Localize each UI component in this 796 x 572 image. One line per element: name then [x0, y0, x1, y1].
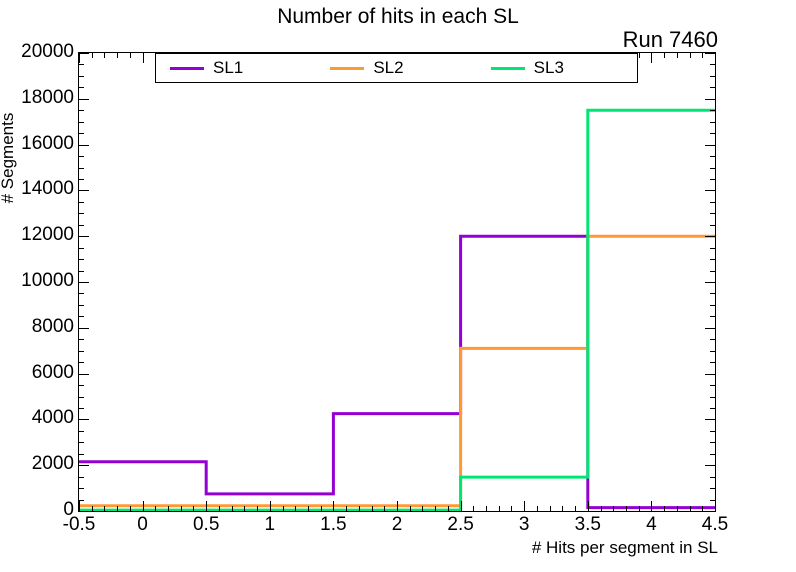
x-axis-tick	[702, 506, 703, 511]
y-axis-tick	[79, 282, 89, 283]
y-axis-tick	[79, 305, 84, 306]
x-axis-tick	[626, 506, 627, 511]
x-axis-tick	[168, 506, 169, 511]
y-axis-tick	[710, 408, 715, 409]
y-axis-tick	[710, 64, 715, 65]
x-axis-tick	[397, 501, 398, 511]
x-axis-tick	[702, 53, 703, 58]
y-tick-label: 14000	[21, 178, 74, 200]
legend: SL1SL2SL3	[155, 53, 638, 83]
x-tick-label: 1.5	[320, 514, 346, 536]
x-tick-label: 0.5	[193, 514, 219, 536]
x-tick-label: 2	[392, 514, 403, 536]
x-tick-label: -0.5	[63, 514, 96, 536]
y-axis-tick	[710, 316, 715, 317]
x-axis-tick	[715, 501, 716, 511]
x-axis-tick	[664, 53, 665, 58]
y-axis-tick	[79, 454, 84, 455]
y-axis-tick	[79, 374, 89, 375]
x-axis-tick	[244, 506, 245, 511]
y-axis-tick	[705, 282, 715, 283]
x-axis-tick	[715, 53, 716, 63]
y-tick-label: 18000	[21, 87, 74, 109]
run-label: Run 7460	[623, 27, 718, 53]
y-axis-tick	[79, 293, 84, 294]
y-axis-tick	[710, 248, 715, 249]
x-axis-tick	[664, 506, 665, 511]
x-axis-tick	[639, 53, 640, 58]
y-axis-tick	[710, 76, 715, 77]
histogram-svg	[79, 53, 715, 511]
x-axis-tick	[677, 506, 678, 511]
x-axis-tick	[92, 53, 93, 58]
y-axis-tick	[79, 271, 84, 272]
y-axis-tick	[710, 488, 715, 489]
y-axis-tick	[79, 465, 89, 466]
y-axis-tick	[710, 271, 715, 272]
y-axis-tick	[79, 87, 84, 88]
x-axis-tick	[651, 501, 652, 511]
y-axis-tick	[79, 419, 89, 420]
y-axis-tick	[705, 419, 715, 420]
y-tick-label: 6000	[32, 362, 74, 384]
y-axis-tick	[705, 145, 715, 146]
y-axis-tick	[79, 64, 84, 65]
y-axis-tick	[79, 145, 89, 146]
x-axis-tick	[143, 501, 144, 511]
y-axis-tick	[710, 454, 715, 455]
histogram-series-sl3	[79, 110, 715, 510]
x-axis-tick	[511, 506, 512, 511]
x-axis-tick	[79, 53, 80, 63]
x-axis-tick	[690, 506, 691, 511]
y-axis-tick	[710, 305, 715, 306]
x-axis-tick	[651, 53, 652, 63]
y-axis-tick	[710, 156, 715, 157]
y-axis-tick	[710, 225, 715, 226]
x-axis-tick	[117, 53, 118, 58]
legend-label: SL3	[534, 58, 564, 78]
x-axis-tick	[130, 506, 131, 511]
x-axis-tick	[308, 506, 309, 511]
y-axis-tick	[79, 442, 84, 443]
legend-entry-sl3[interactable]: SL3	[477, 58, 637, 78]
y-axis-tick	[79, 168, 84, 169]
y-axis-tick	[79, 179, 84, 180]
y-axis-tick	[710, 362, 715, 363]
x-axis-tick	[155, 506, 156, 511]
x-axis-tick	[435, 506, 436, 511]
x-axis-tick	[181, 506, 182, 511]
y-axis-tick	[79, 248, 84, 249]
x-axis-tick	[575, 506, 576, 511]
y-axis-tick	[710, 351, 715, 352]
x-axis-tick	[690, 53, 691, 58]
x-axis-tick	[219, 506, 220, 511]
y-tick-label: 12000	[21, 224, 74, 246]
x-axis-tick	[117, 506, 118, 511]
y-axis-tick	[710, 259, 715, 260]
x-axis-tick	[537, 506, 538, 511]
y-axis-tick	[705, 465, 715, 466]
y-axis-tick	[705, 53, 715, 54]
x-axis-tick	[499, 506, 500, 511]
x-tick-label: 0	[137, 514, 148, 536]
x-tick-label: 4	[646, 514, 657, 536]
y-axis-tick	[79, 156, 84, 157]
y-axis-tick	[710, 213, 715, 214]
y-axis-tick	[79, 53, 89, 54]
x-axis-tick	[524, 501, 525, 511]
y-axis-tick	[710, 431, 715, 432]
x-axis-tick	[550, 506, 551, 511]
x-axis-tick	[193, 506, 194, 511]
x-axis-tick	[283, 506, 284, 511]
x-axis-tick	[372, 506, 373, 511]
y-axis-tick	[705, 374, 715, 375]
x-axis-tick	[677, 53, 678, 58]
x-tick-label: 3	[519, 514, 530, 536]
plot-inner	[79, 53, 715, 511]
y-axis-tick	[79, 202, 84, 203]
y-axis-tick	[710, 110, 715, 111]
y-axis-tick	[79, 408, 84, 409]
y-axis-tick	[79, 236, 89, 237]
y-axis-tick	[710, 293, 715, 294]
legend-swatch-icon	[330, 67, 364, 70]
x-tick-label: 1	[265, 514, 276, 536]
x-axis-tick	[562, 506, 563, 511]
y-axis-tick	[79, 190, 89, 191]
y-axis-tick	[79, 133, 84, 134]
x-axis-tick	[473, 506, 474, 511]
x-axis-tick	[448, 506, 449, 511]
y-axis-tick	[79, 328, 89, 329]
x-axis-tick	[333, 501, 334, 511]
x-axis-tick	[639, 506, 640, 511]
x-axis-tick	[422, 506, 423, 511]
y-axis-tick	[710, 339, 715, 340]
y-tick-label: 20000	[21, 41, 74, 63]
y-axis-tick	[710, 442, 715, 443]
y-axis-tick	[79, 511, 89, 512]
x-axis-tick	[359, 506, 360, 511]
legend-swatch-icon	[491, 67, 525, 70]
y-axis-tick	[79, 110, 84, 111]
x-axis-tick	[410, 506, 411, 511]
histogram-series-sl1	[79, 236, 715, 507]
x-axis-tick	[270, 501, 271, 511]
x-axis-tick	[257, 506, 258, 511]
x-tick-label: 4.5	[702, 514, 728, 536]
x-tick-label: 2.5	[447, 514, 473, 536]
y-axis-tick	[79, 477, 84, 478]
y-tick-label: 4000	[32, 407, 74, 429]
y-axis-tick	[705, 511, 715, 512]
y-axis-tick	[79, 339, 84, 340]
y-axis-title: # Segments	[0, 78, 18, 238]
x-axis-tick	[346, 506, 347, 511]
legend-swatch-icon	[170, 67, 204, 70]
histogram-series-sl2	[79, 236, 715, 506]
y-tick-label: 16000	[21, 133, 74, 155]
y-axis-tick	[705, 328, 715, 329]
y-tick-label: 10000	[21, 270, 74, 292]
y-axis-tick	[79, 316, 84, 317]
y-axis-tick	[710, 385, 715, 386]
legend-label: SL2	[373, 58, 403, 78]
x-axis-tick	[601, 506, 602, 511]
legend-entry-sl2[interactable]: SL2	[316, 58, 476, 78]
legend-label: SL1	[213, 58, 243, 78]
x-tick-label: 3.5	[575, 514, 601, 536]
y-axis-tick	[710, 87, 715, 88]
x-axis-tick	[104, 53, 105, 58]
x-axis-tick	[588, 501, 589, 511]
y-axis-tick	[710, 122, 715, 123]
x-axis-tick	[486, 506, 487, 511]
y-axis-tick	[79, 259, 84, 260]
x-axis-tick	[384, 506, 385, 511]
chart-root: Number of hits in each SL Run 7460 # Seg…	[0, 0, 796, 572]
legend-entry-sl1[interactable]: SL1	[156, 58, 316, 78]
y-axis-tick	[705, 99, 715, 100]
y-axis-tick	[79, 488, 84, 489]
x-axis-tick	[206, 501, 207, 511]
y-axis-tick	[710, 133, 715, 134]
y-axis-tick	[79, 76, 84, 77]
x-axis-tick	[613, 506, 614, 511]
x-axis-tick	[321, 506, 322, 511]
x-axis-tick	[79, 501, 80, 511]
y-axis-tick	[710, 168, 715, 169]
y-axis-tick	[79, 225, 84, 226]
y-axis-tick	[79, 431, 84, 432]
x-axis-tick	[130, 53, 131, 58]
y-axis-tick	[79, 99, 89, 100]
x-axis-tick	[143, 53, 144, 63]
y-axis-tick	[79, 397, 84, 398]
y-tick-label: 2000	[32, 453, 74, 475]
y-axis-tick	[79, 362, 84, 363]
x-axis-tick	[461, 501, 462, 511]
y-axis-tick	[79, 122, 84, 123]
y-tick-label: 8000	[32, 316, 74, 338]
y-axis-tick	[79, 351, 84, 352]
x-axis-tick	[104, 506, 105, 511]
y-axis-tick	[79, 213, 84, 214]
y-axis-tick	[705, 190, 715, 191]
plot-area	[78, 52, 716, 512]
x-axis-tick	[92, 506, 93, 511]
page-title: Number of hits in each SL	[0, 5, 796, 29]
x-axis-tick	[232, 506, 233, 511]
x-axis-tick	[295, 506, 296, 511]
y-axis-tick	[710, 179, 715, 180]
y-axis-tick	[710, 397, 715, 398]
y-axis-tick	[710, 477, 715, 478]
y-axis-tick	[710, 202, 715, 203]
y-axis-tick	[705, 236, 715, 237]
y-axis-tick	[79, 385, 84, 386]
x-axis-title: # Hits per segment in SL	[532, 538, 718, 558]
